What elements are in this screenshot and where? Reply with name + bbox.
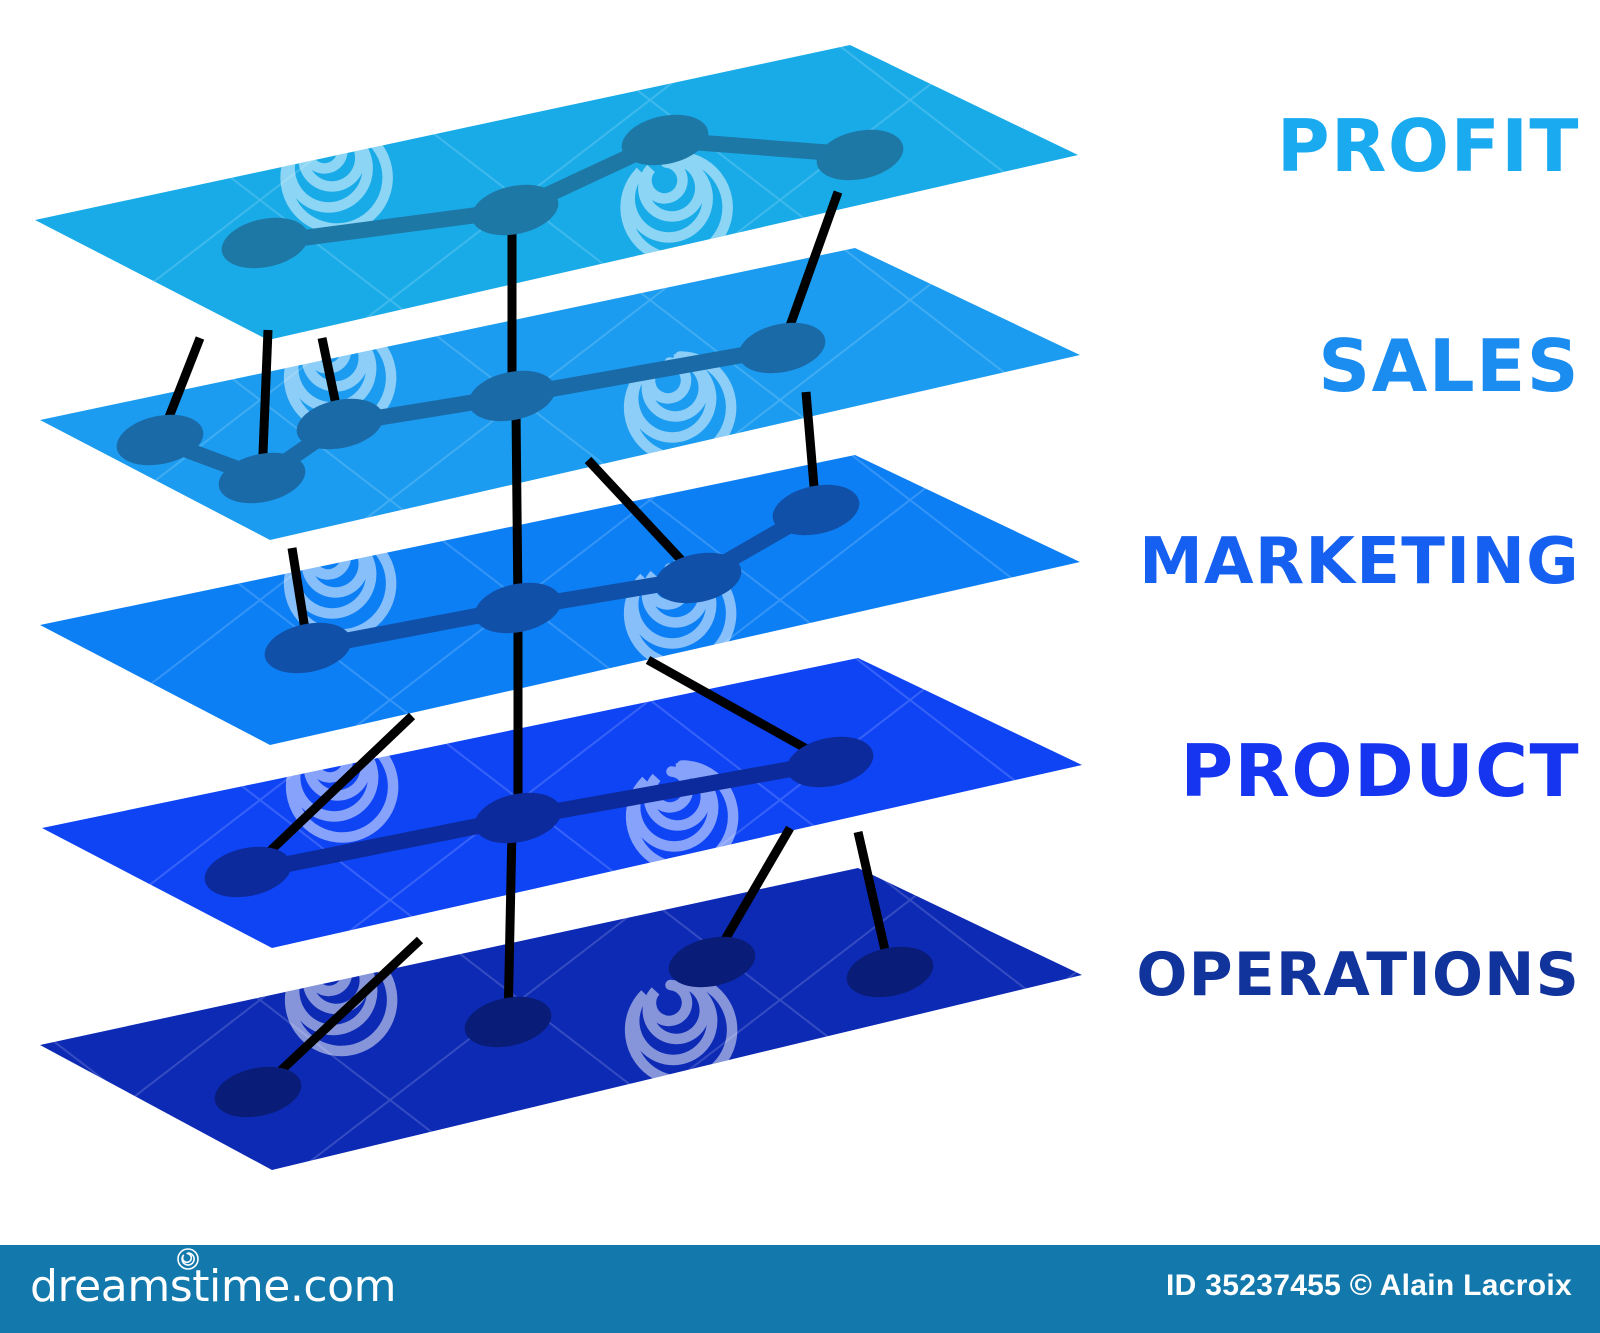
watermark-footer: dreamstime.com ID 35237455 © Alain Lacro… xyxy=(0,1245,1600,1333)
layer-connector-rod xyxy=(516,410,518,608)
layer-label-operations: OPERATIONS xyxy=(1130,945,1580,1005)
layered-stack-svg xyxy=(0,0,1600,1333)
image-credit: ID 35237455 © Alain Lacroix xyxy=(1166,1269,1572,1303)
dreamstime-logo-text: dreamstime.com xyxy=(30,1261,396,1312)
spiral-icon-svg xyxy=(176,1247,200,1271)
layer-label-product: PRODUCT xyxy=(1130,735,1580,807)
layer-connector-rod xyxy=(508,830,512,1022)
dreamstime-logo: dreamstime.com xyxy=(30,1261,396,1312)
diagram-stage: PROFITSALESMARKETINGPRODUCTOPERATIONS dr… xyxy=(0,0,1600,1333)
plane-group xyxy=(0,0,1600,1333)
layer-label-profit: PROFIT xyxy=(1130,110,1580,182)
layer-label-marketing: MARKETING xyxy=(1130,530,1580,594)
spiral-icon xyxy=(176,1247,200,1276)
layer-label-sales: SALES xyxy=(1130,330,1580,402)
